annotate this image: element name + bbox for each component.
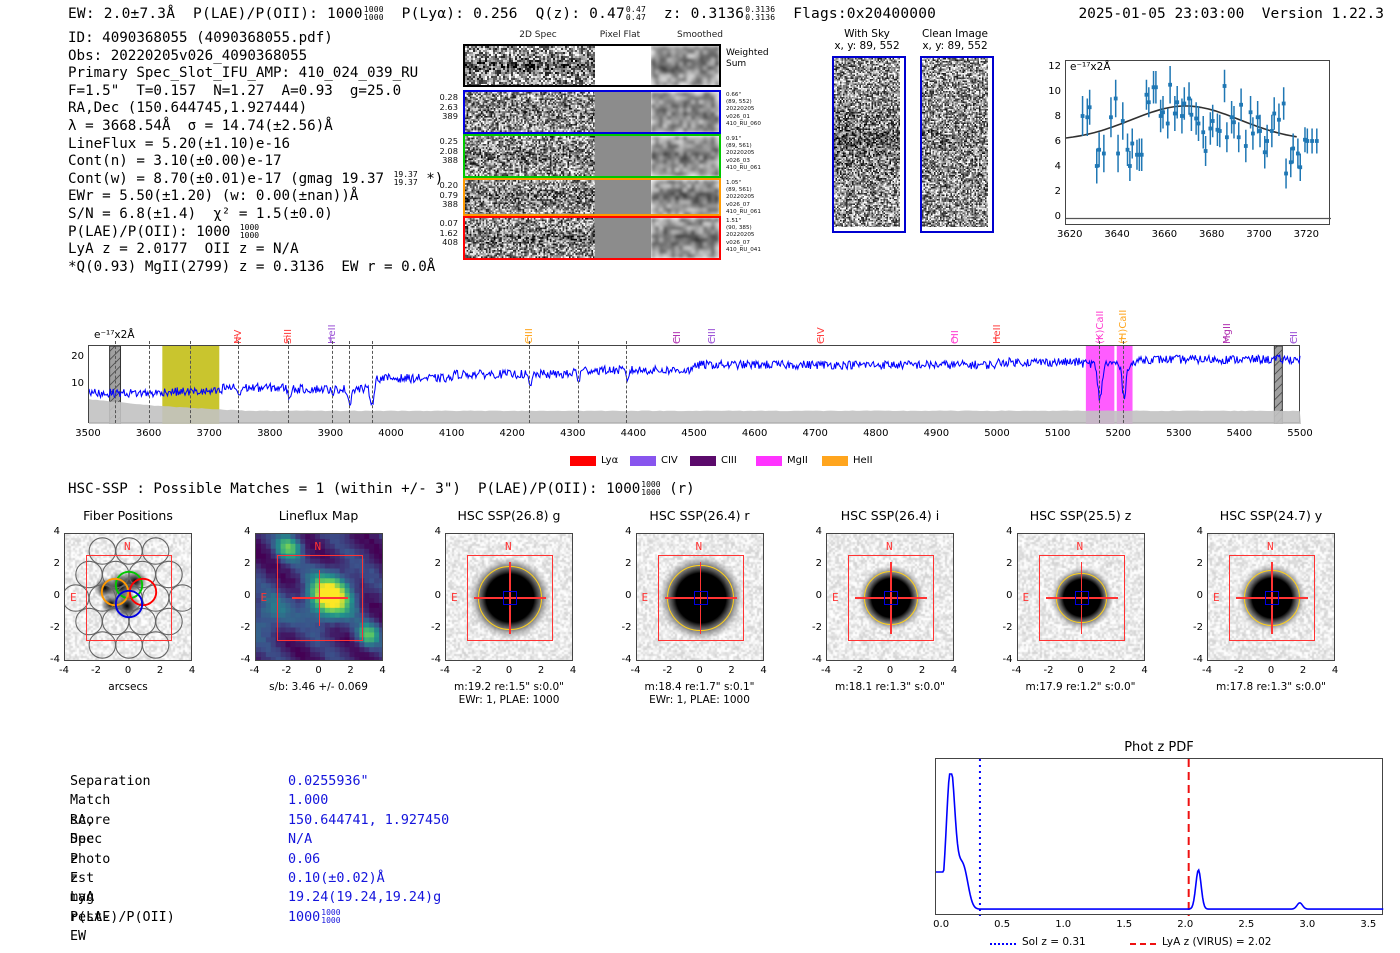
spectrum-marker-line bbox=[349, 341, 350, 423]
cutout-xtick: 0 bbox=[305, 665, 333, 676]
cutout-ytick: 2 bbox=[421, 558, 441, 569]
spectrum-xtick: 3700 bbox=[185, 428, 233, 439]
cutout-ytick: -4 bbox=[802, 654, 822, 665]
compass-north-label: N bbox=[1267, 540, 1274, 553]
table-value: 19.24(19.24,19.24)g bbox=[288, 888, 441, 907]
fiber-strip-2 bbox=[463, 178, 721, 216]
cutout-xtick: 0 bbox=[1257, 665, 1285, 676]
sky-panel-title-1: Clean Imagex, y: 89, 552 bbox=[900, 28, 1010, 52]
line-fit-xtick: 3620 bbox=[1050, 229, 1090, 240]
spectrum-xtick: 5400 bbox=[1215, 428, 1263, 439]
cutout-xtick: -4 bbox=[241, 665, 269, 676]
fiber-strip-0 bbox=[463, 90, 721, 134]
legend-label-CIII: CIII bbox=[721, 455, 737, 466]
line-fit-xtick: 3640 bbox=[1097, 229, 1137, 240]
cutout-ytick: -2 bbox=[993, 622, 1013, 633]
table-value: 1.000 bbox=[288, 791, 328, 810]
compass-east-label: E bbox=[1023, 591, 1030, 604]
cutout-ytick: -4 bbox=[40, 654, 60, 665]
spectrum-ytick: 10 bbox=[60, 378, 84, 389]
spectrum-xtick: 4500 bbox=[670, 428, 718, 439]
line-fit-ytick: 10 bbox=[1041, 86, 1061, 97]
cutout-xtick: 4 bbox=[750, 665, 778, 676]
cutout-center-box bbox=[694, 591, 708, 605]
cutout-xtick: 4 bbox=[559, 665, 587, 676]
cutout-axes-6: NE bbox=[1207, 533, 1335, 661]
hsc-match-summary: HSC-SSP : Possible Matches = 1 (within +… bbox=[68, 481, 695, 497]
cutout-xtick: 0 bbox=[114, 665, 142, 676]
cutout-title-3: HSC SSP(26.4) r bbox=[615, 508, 785, 523]
info-line-7: Cont(n) = 3.10(±0.00)e-17 bbox=[68, 153, 443, 171]
phot-z-xtick: 1.0 bbox=[1043, 919, 1083, 930]
spectrum-xtick: 4700 bbox=[791, 428, 839, 439]
line-fit-ytick: 6 bbox=[1041, 136, 1061, 147]
cutout-xtick: -2 bbox=[82, 665, 110, 676]
compass-north-label: N bbox=[886, 540, 893, 553]
spectrum-marker-line bbox=[190, 341, 191, 423]
info-line-9: EWr = 5.50(±1.20) (w: 0.00(±nan))Å bbox=[68, 188, 443, 206]
spectrum-marker-line bbox=[1099, 341, 1100, 423]
cutout-xtick: 0 bbox=[876, 665, 904, 676]
cutout-center-box bbox=[1075, 591, 1089, 605]
phot-z-xtick: 3.0 bbox=[1287, 919, 1327, 930]
spectrum-xtick: 3800 bbox=[246, 428, 294, 439]
line-fit-ytick: 2 bbox=[1041, 186, 1061, 197]
cutout-caption-2: m:19.2 re:1.5" s:0.0" bbox=[409, 681, 609, 694]
emission-line-bracket: ( bbox=[817, 335, 822, 345]
cutout-axes-1: NE bbox=[255, 533, 383, 661]
cutout-xtick: -2 bbox=[273, 665, 301, 676]
cutout-xtick: 2 bbox=[1099, 665, 1127, 676]
cutout-ytick: 0 bbox=[421, 590, 441, 601]
table-value: 0.10(±0.02)Å bbox=[288, 869, 385, 888]
cutout-ytick: 2 bbox=[802, 558, 822, 569]
table-key: mag bbox=[70, 888, 94, 907]
fiber-right-labels-1: 0.91"(89, 561)20220205v026_03410_RU_061 bbox=[726, 136, 761, 172]
weighted-sum-strip bbox=[463, 44, 721, 87]
table-value: 0.0255936" bbox=[288, 772, 369, 791]
cutout-xtick: 4 bbox=[178, 665, 206, 676]
cutout-ytick: 0 bbox=[802, 590, 822, 601]
cutout-caption-3: m:18.4 re:1.7" s:0.1" bbox=[600, 681, 800, 694]
phot-z-title: Phot z PDF bbox=[935, 740, 1383, 755]
spectrum-xtick: 5100 bbox=[1034, 428, 1082, 439]
fiber-left-labels-3: 0.071.62408 bbox=[418, 219, 458, 248]
cutout-ytick: -2 bbox=[231, 622, 251, 633]
cutout-ytick: 4 bbox=[802, 526, 822, 537]
line-fit-ytick: 12 bbox=[1041, 61, 1061, 72]
sky-panel-image-0 bbox=[832, 56, 906, 233]
legend-label-CIV: CIV bbox=[661, 455, 678, 466]
spectrum-xtick: 4000 bbox=[367, 428, 415, 439]
table-key: Separation bbox=[70, 772, 151, 791]
cutout-caption-4: m:18.1 re:1.3" s:0.0" bbox=[790, 681, 990, 694]
table-key: P(LAE)/P(OII) bbox=[70, 908, 175, 927]
table-value: 150.644741, 1.927450 bbox=[288, 811, 449, 830]
cutout-xtick: 4 bbox=[369, 665, 397, 676]
legend-swatch-Lyα bbox=[570, 456, 596, 466]
spectrum-marker-line bbox=[238, 341, 239, 423]
legend-swatch-CIII bbox=[690, 456, 716, 466]
spectrum-xtick: 4100 bbox=[428, 428, 476, 439]
cutout-xtick: -2 bbox=[1035, 665, 1063, 676]
fiber-right-labels-3: 1.51"(90, 385)20220205v026_07410_RU_041 bbox=[726, 218, 761, 254]
phot-z-xtick: 0.0 bbox=[921, 919, 961, 930]
phot-z-xtick: 0.5 bbox=[982, 919, 1022, 930]
cutout-axes-2: NE bbox=[445, 533, 573, 661]
spectrum-xtick: 3500 bbox=[64, 428, 112, 439]
phot-z-xtick: 1.5 bbox=[1104, 919, 1144, 930]
fiber-left-labels-0: 0.282.63389 bbox=[418, 93, 458, 122]
cutout-axes-4: NE bbox=[826, 533, 954, 661]
cutout-ytick: 0 bbox=[1183, 590, 1203, 601]
phot-z-xtick: 2.0 bbox=[1165, 919, 1205, 930]
cutout-xtick: 2 bbox=[527, 665, 555, 676]
compass-east-label: E bbox=[261, 591, 268, 604]
cutout-ytick: -4 bbox=[231, 654, 251, 665]
info-line-8: Cont(w) = 8.70(±0.01)e-17 (gmag 19.37 19… bbox=[68, 171, 443, 189]
cutout-ytick: 4 bbox=[231, 526, 251, 537]
line-fit-xtick: 3720 bbox=[1286, 229, 1326, 240]
cutout-ytick: -4 bbox=[612, 654, 632, 665]
compass-north-label: N bbox=[1077, 540, 1084, 553]
line-fit-ytick: 4 bbox=[1041, 161, 1061, 172]
spectrum-xtick: 5300 bbox=[1155, 428, 1203, 439]
phot-z-xtick: 2.5 bbox=[1226, 919, 1266, 930]
info-line-11: P(LAE)/P(OII): 1000 10001000 bbox=[68, 224, 443, 242]
cutout-ytick: 0 bbox=[231, 590, 251, 601]
info-line-3: F=1.5" T=0.157 N=1.27 A=0.93 g=25.0 bbox=[68, 83, 443, 101]
cutout-xtick: -4 bbox=[1003, 665, 1031, 676]
fiber-left-labels-1: 0.252.08388 bbox=[418, 137, 458, 166]
cutout-xtick: 2 bbox=[908, 665, 936, 676]
spectrum-marker-line bbox=[115, 341, 116, 423]
cutout-caption-1: s/b: 3.46 +/- 0.069 bbox=[219, 681, 419, 694]
cutout-caption-5: m:17.9 re:1.2" s:0.0" bbox=[981, 681, 1181, 694]
fiber-right-labels-2: 1.05"(89, 561)20220205v026_07410_RU_061 bbox=[726, 180, 761, 216]
header-summary-line: EW: 2.0±7.3Å P(LAE)/P(OII): 100010001000… bbox=[68, 6, 936, 22]
spectrum-marker-line bbox=[332, 341, 333, 423]
legend-label-MgII: MgII bbox=[787, 455, 808, 466]
compass-east-label: E bbox=[642, 591, 649, 604]
compass-east-label: E bbox=[1213, 591, 1220, 604]
cutout-ytick: -4 bbox=[421, 654, 441, 665]
cutout-xtick: 4 bbox=[940, 665, 968, 676]
spec2d-column-title-2: Smoothed bbox=[660, 30, 740, 40]
spectrum-marker-line bbox=[626, 341, 627, 423]
spectrum-xtick: 4800 bbox=[852, 428, 900, 439]
cutout-title-6: HSC SSP(24.7) y bbox=[1186, 508, 1356, 523]
line-fit-xtick: 3700 bbox=[1239, 229, 1279, 240]
cutout-caption-6: m:17.8 re:1.3" s:0.0" bbox=[1171, 681, 1371, 694]
spectrum-ytick: 20 bbox=[60, 351, 84, 362]
cutout-center-marker: + bbox=[126, 593, 132, 604]
cutout-ytick: 4 bbox=[993, 526, 1013, 537]
cutout-ytick: -2 bbox=[421, 622, 441, 633]
cutout-xtick: 4 bbox=[1131, 665, 1159, 676]
compass-north-label: N bbox=[124, 540, 131, 553]
cutout-ytick: 0 bbox=[993, 590, 1013, 601]
spectrum-xtick: 4600 bbox=[731, 428, 779, 439]
cutout-xtick: 2 bbox=[1289, 665, 1317, 676]
cutout-axes-0: +NE bbox=[64, 533, 192, 661]
object-info-block: ID: 4090368055 (4090368055.pdf)Obs: 2022… bbox=[68, 30, 443, 276]
cutout-ytick: 0 bbox=[612, 590, 632, 601]
cutout-ytick: 4 bbox=[612, 526, 632, 537]
table-value: N/A bbox=[288, 830, 312, 849]
cutout-xtick: -4 bbox=[622, 665, 650, 676]
weighted-sum-label: Weighted Sum bbox=[726, 48, 769, 69]
cutout-ytick: 4 bbox=[421, 526, 441, 537]
spectrum-marker-line bbox=[529, 341, 530, 423]
cutout-ytick: -2 bbox=[40, 622, 60, 633]
cutout-ytick: 0 bbox=[40, 590, 60, 601]
compass-east-label: E bbox=[451, 591, 458, 604]
cutout-ytick: -2 bbox=[1183, 622, 1203, 633]
header-timestamp-version: 2025-01-05 23:03:00 Version 1.22.3 bbox=[1078, 6, 1384, 22]
cutout-xtick: -2 bbox=[654, 665, 682, 676]
spectrum-xtick: 5500 bbox=[1276, 428, 1324, 439]
emission-line-bracket: ( bbox=[951, 335, 956, 345]
line-fit-ytick: 0 bbox=[1041, 211, 1061, 222]
compass-east-label: E bbox=[832, 591, 839, 604]
info-line-10: S/N = 6.8(±1.4) χ² = 1.5(±0.0) bbox=[68, 206, 443, 224]
cutout-center-box bbox=[503, 591, 517, 605]
spectrum-xtick: 4900 bbox=[912, 428, 960, 439]
emission-line-bracket: ( bbox=[1223, 335, 1228, 345]
line-fit-unit-label: e⁻¹⁷x2Å bbox=[1070, 61, 1111, 73]
line-fit-xtick: 3660 bbox=[1144, 229, 1184, 240]
spectrum-unit-label: e⁻¹⁷x2Å bbox=[94, 329, 135, 341]
info-line-4: RA,Dec (150.644745,1.927444) bbox=[68, 100, 443, 118]
spec2d-column-title-1: Pixel Flat bbox=[580, 30, 660, 40]
cutout-ytick: 4 bbox=[40, 526, 60, 537]
cutout-xtick: 2 bbox=[146, 665, 174, 676]
spectrum-xtick: 3900 bbox=[306, 428, 354, 439]
phot-z-legend-line bbox=[1130, 943, 1156, 945]
legend-swatch-HeII bbox=[822, 456, 848, 466]
spectrum-xtick: 4200 bbox=[488, 428, 536, 439]
cutout-ytick: -2 bbox=[802, 622, 822, 633]
cutout-xtick: 2 bbox=[718, 665, 746, 676]
cutout-ytick: 2 bbox=[1183, 558, 1203, 569]
fiber-strip-3 bbox=[463, 216, 721, 260]
cutout-xtick: -2 bbox=[844, 665, 872, 676]
cutout-title-0: Fiber Positions bbox=[43, 508, 213, 523]
cutout-xtick: 0 bbox=[1067, 665, 1095, 676]
phot-z-legend-label: LyA z (VIRUS) = 2.02 bbox=[1162, 936, 1271, 948]
table-value: 0.06 bbox=[288, 850, 320, 869]
cutout-ytick: 2 bbox=[993, 558, 1013, 569]
spectrum-xtick: 4300 bbox=[549, 428, 597, 439]
cutout-xtick: -2 bbox=[463, 665, 491, 676]
cutout-crosshair-v bbox=[319, 570, 321, 626]
compass-east-label: E bbox=[70, 591, 77, 604]
phot-z-legend-line bbox=[990, 943, 1016, 945]
cutout-ytick: -2 bbox=[612, 622, 632, 633]
emission-line-bracket: ( bbox=[993, 335, 998, 345]
compass-north-label: N bbox=[696, 540, 703, 553]
line-fit-axes bbox=[1065, 60, 1330, 225]
phot-z-axes bbox=[935, 758, 1383, 915]
info-line-2: Primary Spec_Slot_IFU_AMP: 410_024_039_R… bbox=[68, 65, 443, 83]
cutout-xtick: 4 bbox=[1321, 665, 1349, 676]
phot-z-xtick: 3.5 bbox=[1348, 919, 1388, 930]
emission-line-bracket: ( bbox=[1290, 335, 1295, 345]
legend-swatch-MgII bbox=[756, 456, 782, 466]
info-line-1: Obs: 20220205v026_4090368055 bbox=[68, 48, 443, 66]
info-line-5: λ = 3668.54Å σ = 14.74(±2.56)Å bbox=[68, 118, 443, 136]
legend-label-HeII: HeII bbox=[853, 455, 873, 466]
sky-panel-image-1 bbox=[920, 56, 994, 233]
compass-north-label: N bbox=[505, 540, 512, 553]
spectrum-xtick: 5000 bbox=[973, 428, 1021, 439]
info-line-0: ID: 4090368055 (4090368055.pdf) bbox=[68, 30, 443, 48]
cutout-title-2: HSC SSP(26.8) g bbox=[424, 508, 594, 523]
spectrum-xtick: 3600 bbox=[125, 428, 173, 439]
full-spectrum-axes bbox=[88, 345, 1300, 423]
spectrum-marker-line bbox=[149, 341, 150, 423]
cutout-center-box bbox=[1265, 591, 1279, 605]
cutout-ytick: 4 bbox=[1183, 526, 1203, 537]
two-d-spectrum-panel: 2D SpecPixel FlatSmoothedWeighted Sum0.2… bbox=[420, 30, 820, 260]
cutout-caption2-2: EWr: 1, PLAE: 1000 bbox=[409, 694, 609, 707]
cutout-axes-3: NE bbox=[636, 533, 764, 661]
table-value: 100010001000 bbox=[288, 908, 341, 927]
spectrum-marker-line bbox=[578, 341, 579, 423]
info-line-12: LyA z = 2.0177 OII z = N/A bbox=[68, 241, 443, 259]
cutout-caption2-3: EWr: 1, PLAE: 1000 bbox=[600, 694, 800, 707]
cutout-center-box bbox=[884, 591, 898, 605]
info-line-6: LineFlux = 5.20(±1.10)e-16 bbox=[68, 136, 443, 154]
line-fit-xtick: 3680 bbox=[1192, 229, 1232, 240]
fiber-right-labels-0: 0.66"(89, 552)20220205v026_01410_RU_060 bbox=[726, 92, 761, 128]
cutout-ytick: -4 bbox=[1183, 654, 1203, 665]
cutout-xtick: -4 bbox=[50, 665, 78, 676]
fiber-left-labels-2: 0.200.79388 bbox=[418, 181, 458, 210]
cutout-xtick: -4 bbox=[812, 665, 840, 676]
cutout-xtick: -2 bbox=[1225, 665, 1253, 676]
cutout-axes-5: NE bbox=[1017, 533, 1145, 661]
cutout-xtick: 2 bbox=[337, 665, 365, 676]
cutout-xtick: 0 bbox=[495, 665, 523, 676]
spectrum-marker-line bbox=[372, 341, 373, 423]
cutout-ytick: 2 bbox=[612, 558, 632, 569]
phot-z-legend-label: Sol z = 0.31 bbox=[1022, 936, 1086, 948]
cutout-xtick: -4 bbox=[1193, 665, 1221, 676]
cutout-title-5: HSC SSP(25.5) z bbox=[996, 508, 1166, 523]
cutout-title-4: HSC SSP(26.4) i bbox=[805, 508, 975, 523]
cutout-ytick: 2 bbox=[40, 558, 60, 569]
emission-line-bracket: ( bbox=[708, 335, 713, 345]
fiber-strip-1 bbox=[463, 134, 721, 178]
spec2d-column-title-0: 2D Spec bbox=[498, 30, 578, 40]
emission-line-bracket: ( bbox=[673, 335, 678, 345]
info-line-13: *Q(0.93) MgII(2799) z = 0.3136 EW r = 0.… bbox=[68, 259, 443, 277]
cutout-title-1: Lineflux Map bbox=[234, 508, 404, 523]
cutout-ytick: 2 bbox=[231, 558, 251, 569]
spectrum-xtick: 4400 bbox=[609, 428, 657, 439]
cutout-xtick: -4 bbox=[431, 665, 459, 676]
spectrum-marker-line bbox=[288, 341, 289, 423]
spectrum-marker-line bbox=[1123, 341, 1124, 423]
legend-label-Lyα: Lyα bbox=[601, 455, 618, 466]
line-fit-ytick: 8 bbox=[1041, 111, 1061, 122]
spectrum-xtick: 5200 bbox=[1094, 428, 1142, 439]
cutout-xlabel: arcsecs bbox=[28, 681, 228, 694]
cutout-ytick: -4 bbox=[993, 654, 1013, 665]
legend-swatch-CIV bbox=[630, 456, 656, 466]
compass-north-label: N bbox=[315, 540, 322, 553]
cutout-xtick: 0 bbox=[686, 665, 714, 676]
